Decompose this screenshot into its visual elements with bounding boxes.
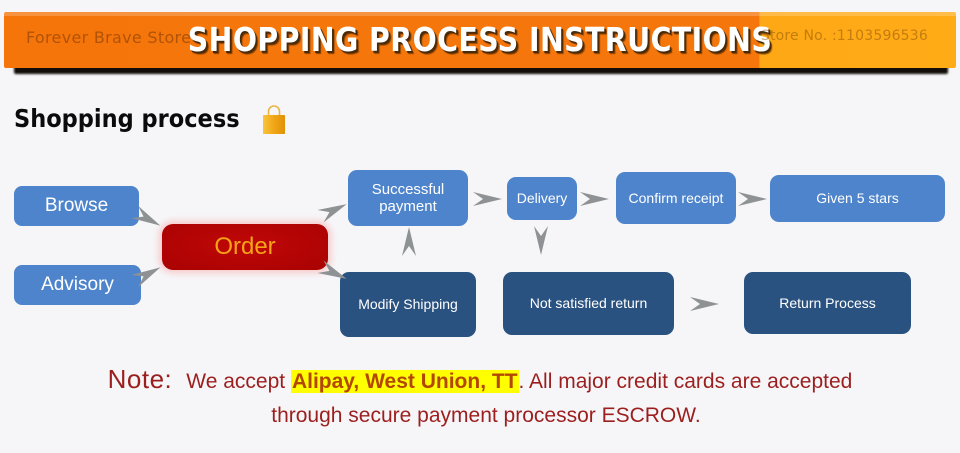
note-line-2: through secure payment processor ESCROW. <box>0 399 960 433</box>
arrow-confirm-receipt-to-given-5-stars <box>736 189 770 209</box>
flow-node-order[interactable]: Order <box>162 224 328 270</box>
shopping-bag-icon <box>259 103 289 135</box>
flow-node-delivery-label: Delivery <box>517 190 568 206</box>
arrow-successful-payment-to-delivery <box>471 189 505 209</box>
flow-node-successful-payment-label: Successful payment <box>354 181 462 216</box>
note-highlight: Alipay, West Union, TT <box>291 370 519 393</box>
promo-banner-page: Forever Brave Store SHOPPING PROCESS INS… <box>0 0 960 453</box>
flow-node-order-label: Order <box>214 233 275 261</box>
header-banner: Forever Brave Store SHOPPING PROCESS INS… <box>0 10 960 72</box>
flow-node-confirm-receipt[interactable]: Confirm receipt <box>616 172 736 224</box>
flow-node-browse[interactable]: Browse <box>14 186 139 226</box>
banner-body: Forever Brave Store SHOPPING PROCESS INS… <box>4 12 956 68</box>
arrow-not-satisfied-return-to-return-process <box>688 294 722 314</box>
flow-node-advisory-label: Advisory <box>41 274 114 296</box>
arrow-order-to-successful-payment <box>314 194 353 226</box>
payment-note: Note:We accept Alipay, West Union, TT. A… <box>0 362 960 433</box>
flow-node-return-process-label: Return Process <box>779 295 875 311</box>
flow-node-advisory[interactable]: Advisory <box>14 265 141 305</box>
arrow-delivery-to-not-satisfied-return <box>531 224 551 258</box>
flow-node-successful-payment[interactable]: Successful payment <box>348 170 468 226</box>
note-line-1: Note:We accept Alipay, West Union, TT. A… <box>0 362 960 399</box>
section-heading-label: Shopping process <box>14 105 240 133</box>
note-text-before: We accept <box>186 370 285 393</box>
flow-node-return-process[interactable]: Return Process <box>744 272 911 334</box>
flow-node-delivery[interactable]: Delivery <box>507 177 577 220</box>
flow-node-browse-label: Browse <box>45 195 108 217</box>
arrow-modify-shipping-to-successful-payment <box>399 224 419 258</box>
note-label: Note: <box>108 364 173 394</box>
flow-node-modify-shipping-label: Modify Shipping <box>358 296 458 312</box>
flow-node-confirm-receipt-label: Confirm receipt <box>629 190 724 206</box>
flow-node-given-5-stars-label: Given 5 stars <box>816 190 898 206</box>
flow-node-not-satisfied-return[interactable]: Not satisfied return <box>503 272 674 335</box>
flow-node-not-satisfied-return-label: Not satisfied return <box>530 295 648 311</box>
store-number-watermark: Store No. :1103596536 <box>761 28 928 44</box>
section-heading-reflection: Shopping process <box>14 134 289 156</box>
arrow-delivery-to-confirm-receipt <box>578 189 612 209</box>
section-heading: Shopping process <box>14 103 289 163</box>
flow-node-given-5-stars[interactable]: Given 5 stars <box>770 175 945 222</box>
flow-node-modify-shipping[interactable]: Modify Shipping <box>340 272 476 337</box>
note-text-after: . All major credit cards are accepted <box>519 370 853 393</box>
